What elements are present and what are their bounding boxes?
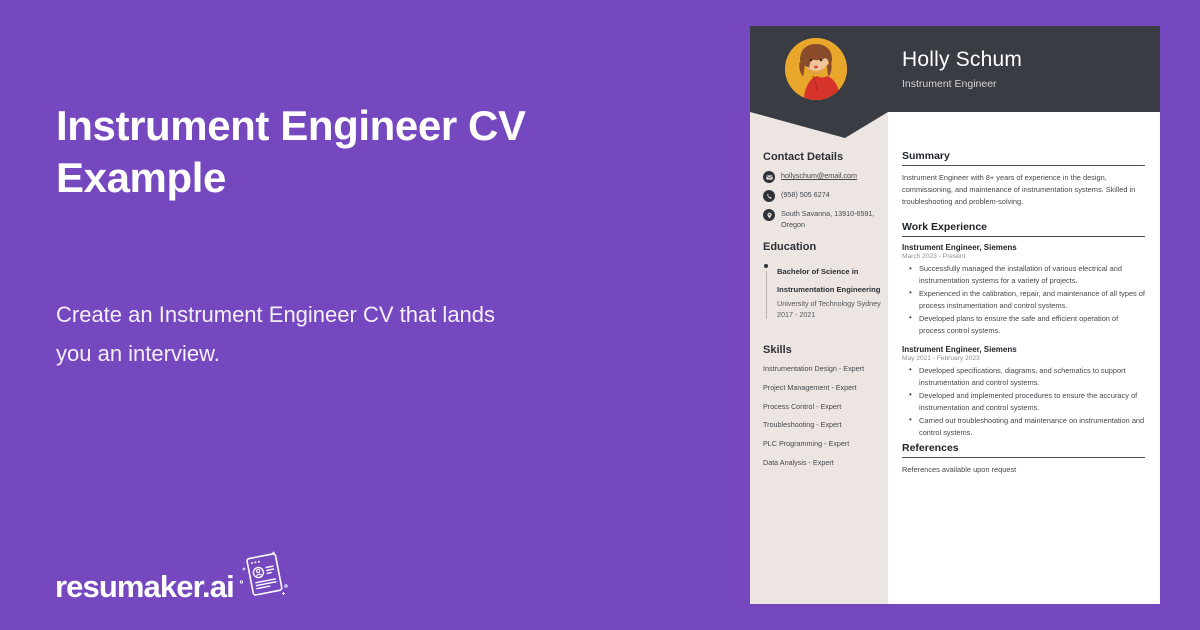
envelope-icon [763,171,775,183]
job-bullet: Carried out troubleshooting and maintena… [902,415,1145,439]
contact-address-value: South Savanna, 13910-6591, Oregon [781,209,881,231]
cv-preview-card[interactable]: Holly Schum Instrument Engineer Contact … [750,26,1160,604]
education-entry: Bachelor of Science in Instrumentation E… [763,261,881,321]
references-heading: References [902,442,1145,458]
skill-item: PLC Programming - Expert [763,439,881,450]
cv-job-title: Instrument Engineer [902,78,997,90]
resume-document-icon [238,549,290,606]
job-entry: Instrument Engineer, Siemens May 2021 - … [902,345,1145,439]
summary-text: Instrument Engineer with 8+ years of exp… [902,172,1145,208]
skill-item: Troubleshooting - Expert [763,420,881,431]
education-heading: Education [763,241,881,253]
job-bullet: Successfully managed the installation of… [902,263,1145,287]
job-bullet-list: Developed specifications, diagrams, and … [902,365,1145,439]
location-pin-icon [763,209,775,221]
job-title: Instrument Engineer, Siemens [902,345,1145,354]
work-experience-heading: Work Experience [902,221,1145,237]
work-experience-section: Work Experience Instrument Engineer, Sie… [902,221,1145,440]
timeline-line [766,271,767,319]
promo-subtitle: Create an Instrument Engineer CV that la… [56,296,536,373]
skill-item: Project Management - Expert [763,383,881,394]
education-dates: 2017 - 2021 [777,310,881,321]
skill-item: Instrumentation Design - Expert [763,364,881,375]
job-bullet-list: Successfully managed the installation of… [902,263,1145,337]
summary-heading: Summary [902,150,1145,166]
avatar [785,38,847,100]
references-section: References References available upon req… [902,442,1145,476]
job-dates: May 2021 - February 2023 [902,355,1145,362]
skill-item: Data Analysis - Expert [763,458,881,469]
bullet-dot-icon [764,264,768,268]
job-bullet: Experienced in the calibration, repair, … [902,288,1145,312]
skills-heading: Skills [763,344,881,356]
job-dates: March 2023 - Present [902,253,1145,260]
summary-section: Summary Instrument Engineer with 8+ year… [902,150,1145,208]
education-timeline-rail [763,261,773,321]
phone-icon [763,190,775,202]
contact-phone-value: (958) 505 6274 [781,190,830,201]
contact-email-value[interactable]: hollyschum@email.com [781,171,857,182]
contact-details-section: Contact Details hollyschum@email.com (95… [763,151,881,238]
brand-logo[interactable]: resumaker.ai [55,549,290,602]
job-entry: Instrument Engineer, Siemens March 2023 … [902,243,1145,337]
education-section: Education Bachelor of Science in Instrum… [763,241,881,321]
page-title: Instrument Engineer CV Example [56,100,616,204]
job-bullet: Developed specifications, diagrams, and … [902,365,1145,389]
education-degree: Bachelor of Science in Instrumentation E… [777,267,880,294]
job-bullet: Developed and implemented procedures to … [902,390,1145,414]
skill-item: Process Control - Expert [763,402,881,413]
education-school: University of Technology Sydney [777,299,881,310]
skills-section: Skills Instrumentation Design - Expert P… [763,344,881,477]
contact-item-address[interactable]: South Savanna, 13910-6591, Oregon [763,209,881,231]
promo-panel: Instrument Engineer CV Example Create an… [0,0,750,630]
contact-heading: Contact Details [763,151,881,163]
contact-item-phone[interactable]: (958) 505 6274 [763,190,881,202]
cv-full-name: Holly Schum [902,48,1022,72]
job-title: Instrument Engineer, Siemens [902,243,1145,252]
contact-item-email[interactable]: hollyschum@email.com [763,171,881,183]
references-text: References available upon request [902,464,1145,476]
brand-name: resumaker.ai [55,571,234,602]
job-bullet: Developed plans to ensure the safe and e… [902,313,1145,337]
